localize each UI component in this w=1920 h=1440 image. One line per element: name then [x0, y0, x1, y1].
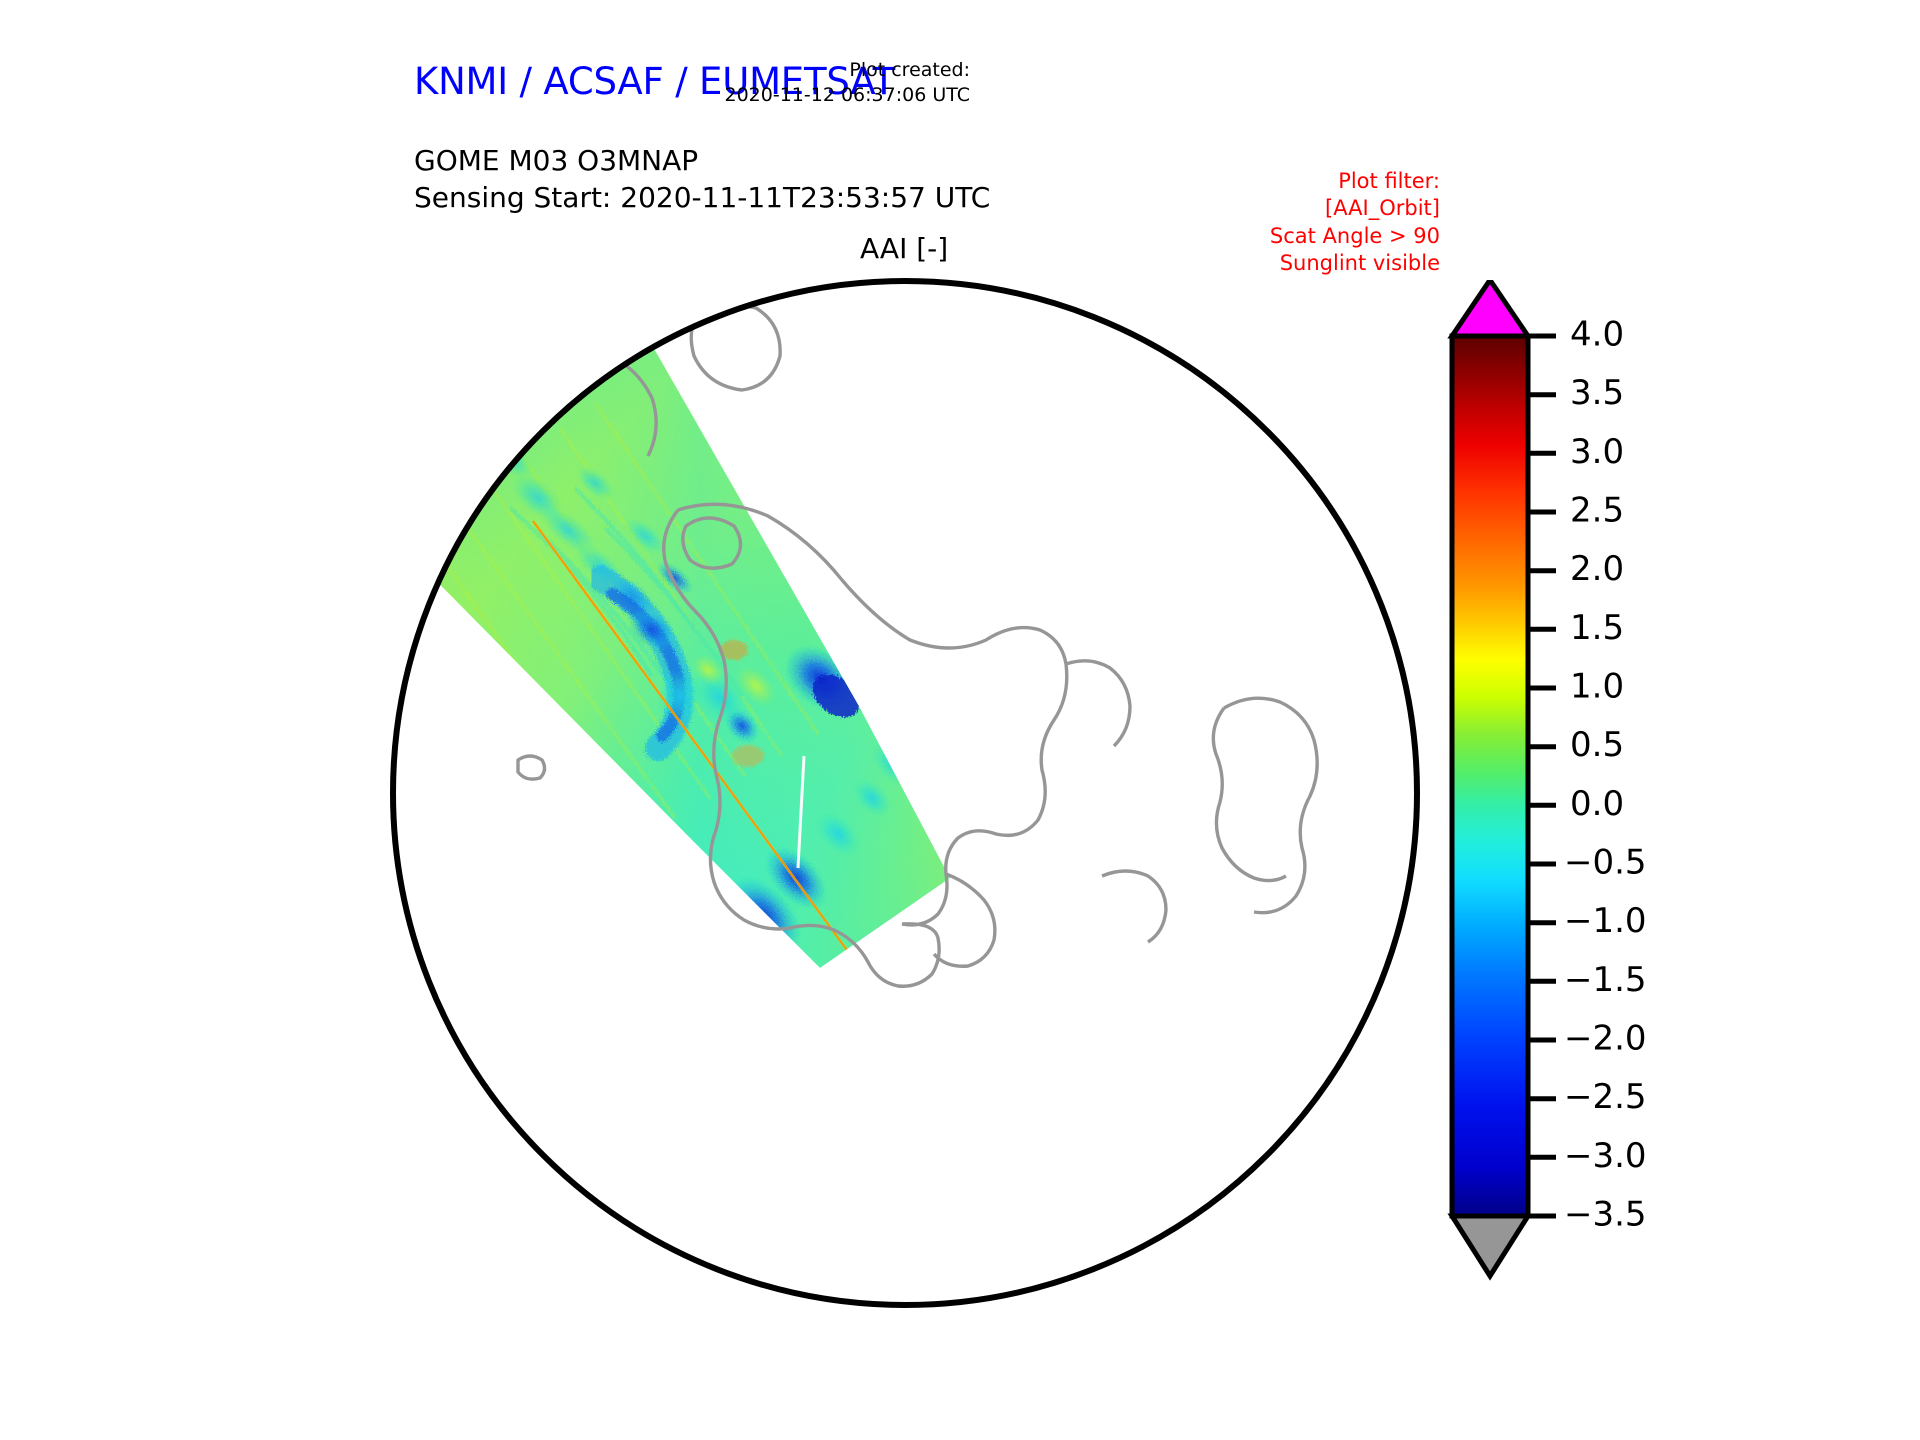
colorbar-svg: 4.0 3.5 3.0 2.5 2.0 1.5 1.0 0.5 0.0 −0.5…	[1440, 280, 1860, 1320]
plot-created-block: Plot created: 2020-11-12 06:37:06 UTC	[640, 58, 970, 107]
colorbar-tick-label: −2.0	[1564, 1019, 1647, 1059]
colorbar-tick-label: 3.0	[1570, 432, 1624, 472]
plot-filter-block: Plot filter: [AAI_Orbit] Scat Angle > 90…	[1190, 168, 1440, 277]
plot-created-timestamp: 2020-11-12 06:37:06 UTC	[640, 83, 970, 108]
dataset-name: GOME M03 O3MNAP	[414, 142, 990, 179]
plot-filter-label: Plot filter:	[1190, 168, 1440, 195]
colorbar-tick-label: −1.5	[1564, 960, 1647, 1000]
colorbar-tick-label: 1.0	[1570, 667, 1624, 707]
colorbar-tick-label: 0.0	[1570, 784, 1624, 824]
plot-filter-name: [AAI_Orbit]	[1190, 195, 1440, 222]
colorbar-tick-label: 3.5	[1570, 373, 1624, 413]
sensing-start: Sensing Start: 2020-11-11T23:53:57 UTC	[414, 179, 990, 216]
variable-label: AAI [-]	[860, 232, 948, 265]
colorbar-tick-label: −0.5	[1564, 843, 1647, 883]
colorbar-tick-label: 2.0	[1570, 549, 1624, 589]
figure-canvas: KNMI / ACSAF / EUMETSAT Plot created: 20…	[0, 0, 1920, 1440]
colorbar-panel: 4.0 3.5 3.0 2.5 2.0 1.5 1.0 0.5 0.0 −0.5…	[1440, 280, 1860, 1320]
colorbar-tick-label: −3.0	[1564, 1136, 1647, 1176]
plot-filter-sunglint: Sunglint visible	[1190, 250, 1440, 277]
colorbar-tick-label: 4.0	[1570, 315, 1624, 355]
colorbar-gradient	[1452, 336, 1528, 1216]
colorbar-tick-label: −1.0	[1564, 901, 1647, 941]
colorbar-ticks	[1528, 336, 1556, 1216]
plot-filter-scat: Scat Angle > 90	[1190, 223, 1440, 250]
colorbar-under-range-arrow	[1452, 1216, 1528, 1276]
colorbar-tick-label: 1.5	[1570, 608, 1624, 648]
colorbar-tick-labels: 4.0 3.5 3.0 2.5 2.0 1.5 1.0 0.5 0.0 −0.5…	[1564, 315, 1647, 1235]
colorbar-tick-label: 0.5	[1570, 725, 1624, 765]
colorbar-tick-label: −3.5	[1564, 1195, 1647, 1235]
colorbar-tick-label: −2.5	[1564, 1077, 1647, 1117]
colorbar-tick-label: 2.5	[1570, 491, 1624, 531]
plot-created-label: Plot created:	[640, 58, 970, 83]
dataset-info-block: GOME M03 O3MNAP Sensing Start: 2020-11-1…	[414, 142, 990, 216]
map-panel	[390, 278, 1420, 1308]
map-svg	[390, 278, 1420, 1308]
colorbar-over-range-arrow	[1452, 280, 1528, 336]
